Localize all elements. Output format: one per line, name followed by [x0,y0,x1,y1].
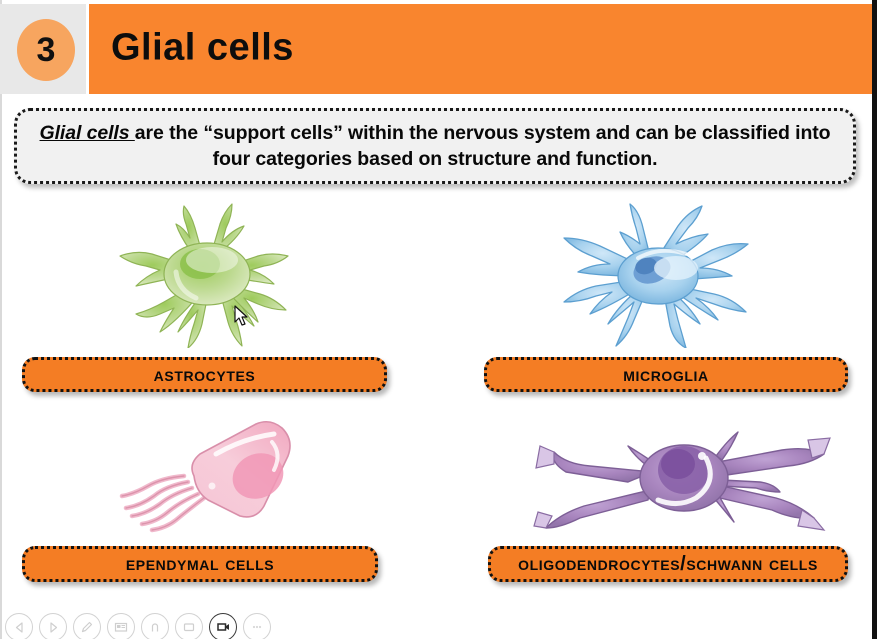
video-screen-icon [216,620,231,635]
definition-text: Glial cells are the “support cells” with… [17,120,853,173]
cell-label-microglia[interactable]: Microglia [484,357,848,392]
cell-label-text: Microglia [623,365,709,385]
slide-right-border [872,0,877,639]
pen-icon [80,620,94,634]
pointer-button[interactable] [141,613,169,639]
pen-button[interactable] [73,613,101,639]
previous-slide-button[interactable] [5,613,33,639]
rectangle-icon [182,620,196,634]
cell-label-text: Astrocytes [154,365,256,385]
ellipsis-icon [250,620,264,634]
definition-body: are the “support cells” within the nervo… [135,122,831,170]
definition-callout: Glial cells are the “support cells” with… [14,108,856,184]
presenter-view-button[interactable] [209,613,237,639]
slide-number-badge: 3 [17,19,75,81]
cell-label-ependymal-cells[interactable]: Ependymal cells [22,546,378,582]
next-slide-button[interactable] [39,613,67,639]
definition-term: Glial cells [40,122,135,144]
slides-icon [114,620,128,634]
slide-title-bar: Glial cells [89,4,872,94]
cell-label-text: Oligodendrocytes/Schwann cells [518,554,818,574]
slide-left-border [0,0,2,639]
slide-number-panel: 3 [0,4,86,94]
oligodendrocyte-illustration [532,424,832,536]
presentation-slide: 3 Glial cells Glial cells are the “suppo… [0,0,877,639]
astrocyte-illustration [112,198,302,348]
slide-sorter-button[interactable] [107,613,135,639]
ependymal-cell-illustration [116,420,306,536]
spotlight-icon [148,620,162,634]
triangle-left-icon [13,621,26,634]
cell-label-text: Ependymal cells [126,554,274,574]
slide-header: 3 Glial cells [0,4,872,94]
page-title: Glial cells [111,27,294,70]
more-options-button[interactable] [243,613,271,639]
microglia-illustration [542,202,772,348]
triangle-right-icon [47,621,60,634]
cell-label-astrocytes[interactable]: Astrocytes [22,357,387,392]
slide-number-text: 3 [37,33,56,67]
blank-screen-button[interactable] [175,613,203,639]
presentation-toolbar[interactable] [0,613,305,639]
cell-label-oligodendrocytes-schwann-cells[interactable]: Oligodendrocytes/Schwann cells [488,546,848,582]
